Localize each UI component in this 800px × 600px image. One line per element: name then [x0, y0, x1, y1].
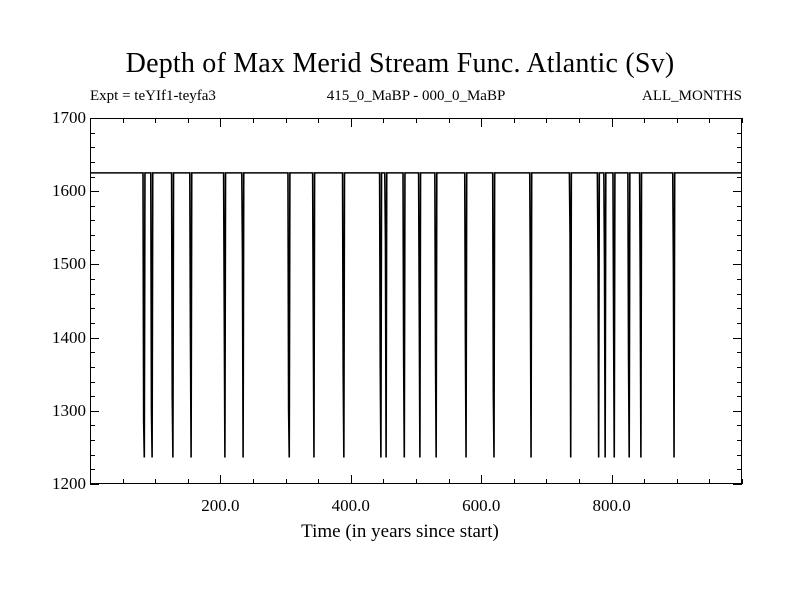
y-axis-label: 1600	[52, 181, 86, 201]
subtitle-row: Expt = teYIf1-teyfa3 415_0_MaBP - 000_0_…	[90, 88, 742, 110]
y-axis-label: 1700	[52, 108, 86, 128]
x-axis-label: 400.0	[332, 496, 370, 516]
x-tick-minor	[742, 479, 743, 484]
y-axis-label: 1200	[52, 474, 86, 494]
y-axis-label: 1400	[52, 328, 86, 348]
y-tick-major-right	[733, 484, 742, 485]
y-axis-label: 1300	[52, 401, 86, 421]
x-axis-label: 600.0	[462, 496, 500, 516]
x-axis-label: 800.0	[592, 496, 630, 516]
x-axis-title: Time (in years since start)	[0, 521, 800, 543]
y-tick-major	[90, 484, 99, 485]
x-axis-label: 200.0	[201, 496, 239, 516]
page-title: Depth of Max Merid Stream Func. Atlantic…	[0, 48, 800, 80]
y-axis-label: 1500	[52, 254, 86, 274]
data-line-series	[91, 119, 741, 483]
plot-area	[90, 118, 742, 484]
x-tick-minor-top	[742, 118, 743, 123]
subtitle-months: ALL_MONTHS	[642, 88, 742, 105]
plot-figure: Depth of Max Merid Stream Func. Atlantic…	[0, 0, 800, 600]
